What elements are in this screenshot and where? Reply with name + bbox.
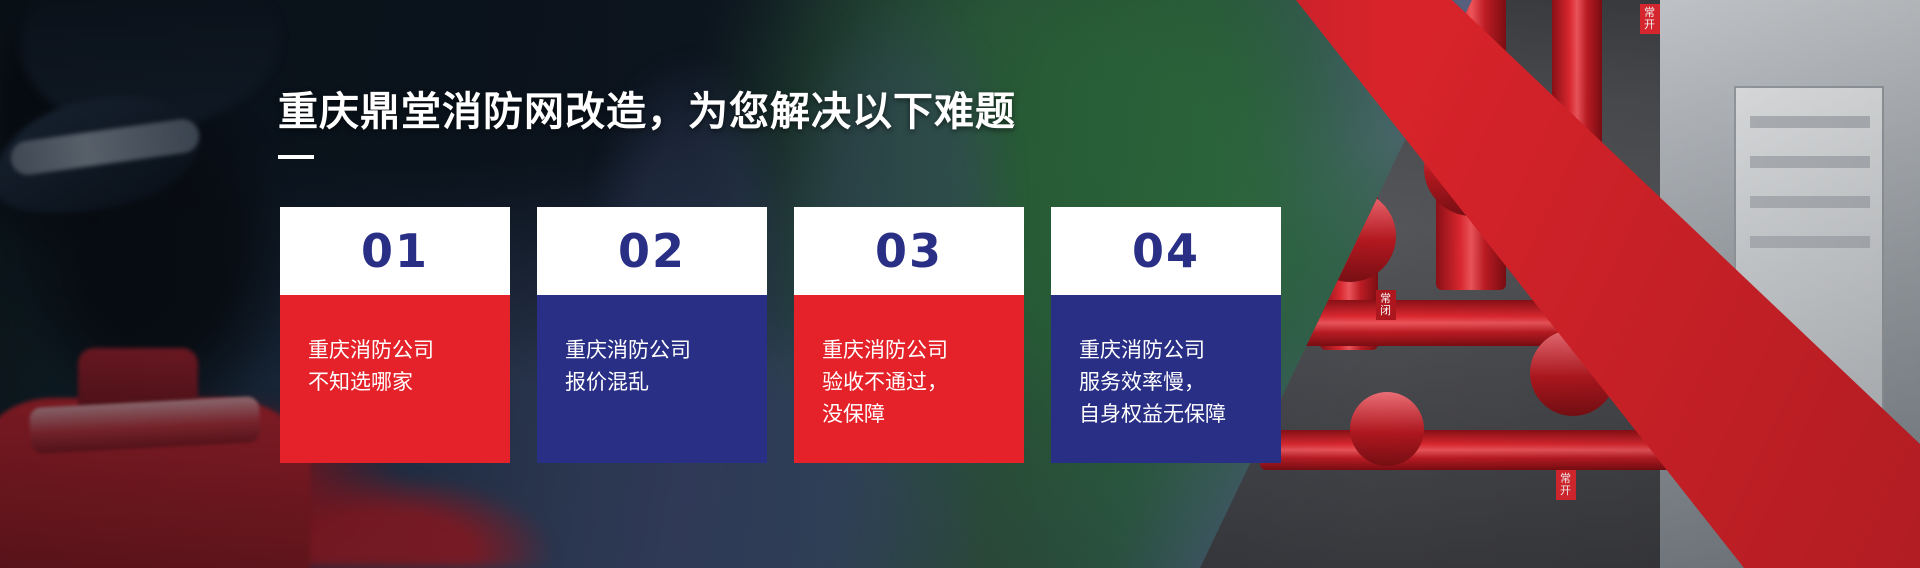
banner-content: 重庆鼎堂消防网改造，为您解决以下难题 01 重庆消防公司 不知选哪家 02 重庆… (0, 0, 1920, 568)
problem-card-01[interactable]: 01 重庆消防公司 不知选哪家 (280, 207, 510, 463)
card-text: 重庆消防公司 服务效率慢， 自身权益无保障 (1051, 295, 1281, 463)
page-title: 重庆鼎堂消防网改造，为您解决以下难题 (278, 86, 1016, 138)
card-number-block: 03 (794, 207, 1024, 295)
promo-banner: 常开 常闭 常开 重庆鼎堂消防网改造，为您解决以下难题 01 重庆消防公司 不知… (0, 0, 1920, 568)
problem-card-03[interactable]: 03 重庆消防公司 验收不通过， 没保障 (794, 207, 1024, 463)
card-text: 重庆消防公司 验收不通过， 没保障 (794, 295, 1024, 463)
card-text: 重庆消防公司 报价混乱 (537, 295, 767, 463)
card-number: 02 (618, 224, 686, 278)
card-number-block: 01 (280, 207, 510, 295)
card-number: 01 (361, 224, 429, 278)
card-number-block: 02 (537, 207, 767, 295)
problem-card-04[interactable]: 04 重庆消防公司 服务效率慢， 自身权益无保障 (1051, 207, 1281, 463)
title-underline-rule (278, 155, 314, 159)
card-number: 03 (875, 224, 943, 278)
problem-card-02[interactable]: 02 重庆消防公司 报价混乱 (537, 207, 767, 463)
card-number: 04 (1132, 224, 1200, 278)
card-text: 重庆消防公司 不知选哪家 (280, 295, 510, 463)
problem-card-list: 01 重庆消防公司 不知选哪家 02 重庆消防公司 报价混乱 03 重庆消防公司… (280, 207, 1281, 463)
card-number-block: 04 (1051, 207, 1281, 295)
